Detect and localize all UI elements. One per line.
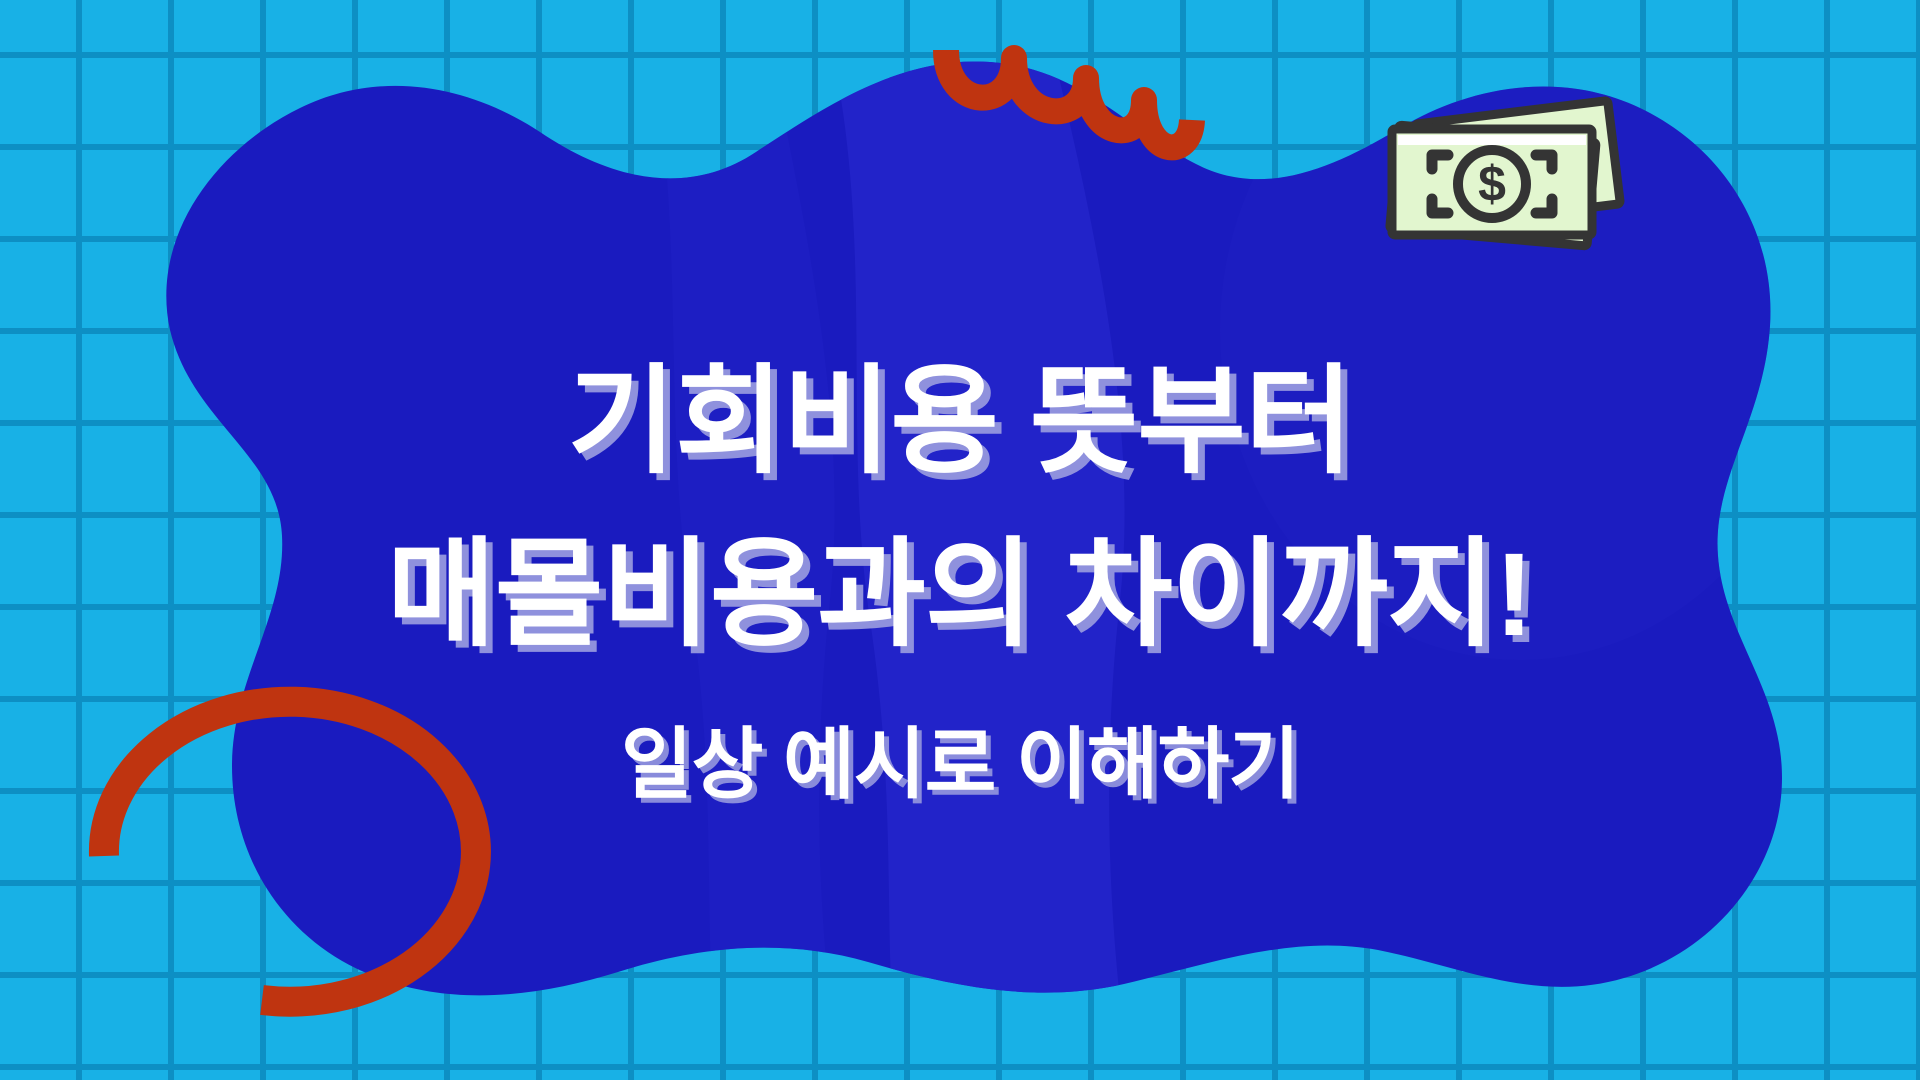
blob-highlight-blur <box>1220 0 1820 660</box>
content-panel-blob <box>0 0 1920 1080</box>
thumbnail-canvas: $ 기회비용 뜻부터 매몰비용과의 차이까지! 일상 예시로 이해하기 <box>0 0 1920 1080</box>
